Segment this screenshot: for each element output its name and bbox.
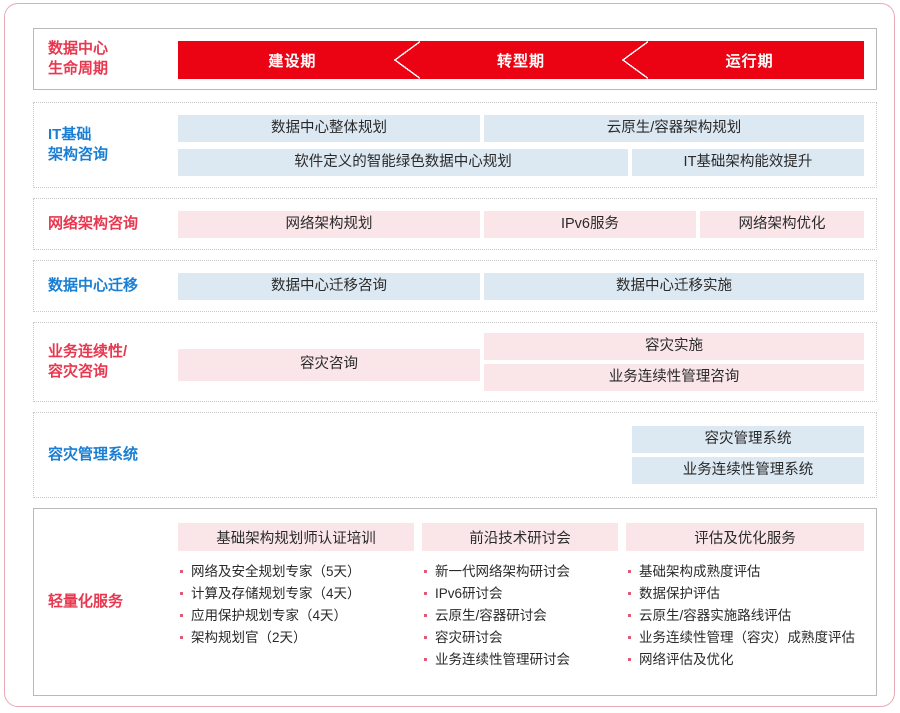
list-item[interactable]: 数据保护评估 — [626, 583, 864, 605]
service-box-dr-implementation[interactable]: 容灾实施 — [484, 333, 864, 360]
column-header-seminars[interactable]: 前沿技术研讨会 — [422, 523, 618, 551]
row-it-infrastructure: IT基础 架构咨询 数据中心整体规划 云原生/容器架构规划 软件定义的智能绿色数… — [33, 102, 877, 188]
row-label-light-services: 轻量化服务 — [48, 592, 123, 612]
service-box-network-optimization[interactable]: 网络架构优化 — [700, 211, 864, 238]
list-item[interactable]: 计算及存储规划专家（4天） — [178, 583, 414, 605]
list-item[interactable]: IPv6研讨会 — [422, 583, 618, 605]
service-box-migration-consulting[interactable]: 数据中心迁移咨询 — [178, 273, 480, 300]
list-item[interactable]: 业务连续性管理研讨会 — [422, 649, 618, 671]
bullet-list-assessment: 基础架构成熟度评估 数据保护评估 云原生/容器实施路线评估 业务连续性管理（容灾… — [626, 561, 864, 671]
bullet-list-seminars: 新一代网络架构研讨会 IPv6研讨会 云原生/容器研讨会 容灾研讨会 业务连续性… — [422, 561, 618, 671]
light-services-columns: 基础架构规划师认证培训 网络及安全规划专家（5天） 计算及存储规划专家（4天） … — [178, 523, 864, 683]
phase-strip: 建设期 转型期 运行期 — [178, 41, 864, 79]
service-box-bcm-consulting[interactable]: 业务连续性管理咨询 — [484, 364, 864, 391]
light-services-column-seminars: 前沿技术研讨会 新一代网络架构研讨会 IPv6研讨会 云原生/容器研讨会 容灾研… — [422, 523, 618, 683]
row-label-dc-migration: 数据中心迁移 — [48, 276, 138, 296]
row-label-it-infrastructure: IT基础 架构咨询 — [48, 125, 108, 166]
list-item[interactable]: 云原生/容器研讨会 — [422, 605, 618, 627]
row-label-network-architecture: 网络架构咨询 — [48, 214, 138, 234]
row-label-dr-management-system: 容灾管理系统 — [48, 445, 138, 465]
service-box-migration-implementation[interactable]: 数据中心迁移实施 — [484, 273, 864, 300]
service-box-dr-consulting[interactable]: 容灾咨询 — [178, 349, 480, 381]
list-item[interactable]: 网络评估及优化 — [626, 649, 864, 671]
service-matrix: 数据中心 生命周期 建设期 转型期 运行期 IT基础 架构咨询 数据中心整体规划… — [33, 28, 877, 696]
row-dr-management-system: 容灾管理系统 容灾管理系统 业务连续性管理系统 — [33, 412, 877, 498]
list-item[interactable]: 基础架构成熟度评估 — [626, 561, 864, 583]
service-box-cloud-native-planning[interactable]: 云原生/容器架构规划 — [484, 115, 864, 142]
list-item[interactable]: 业务连续性管理（容灾）成熟度评估 — [626, 627, 864, 649]
row-lifecycle: 数据中心 生命周期 建设期 转型期 运行期 — [33, 28, 877, 90]
list-item[interactable]: 云原生/容器实施路线评估 — [626, 605, 864, 627]
service-box-it-efficiency[interactable]: IT基础架构能效提升 — [632, 149, 864, 176]
page-frame: 数据中心 生命周期 建设期 转型期 运行期 IT基础 架构咨询 数据中心整体规划… — [4, 3, 895, 707]
list-item[interactable]: 容灾研讨会 — [422, 627, 618, 649]
list-item[interactable]: 网络及安全规划专家（5天） — [178, 561, 414, 583]
row-label-lifecycle: 数据中心 生命周期 — [48, 39, 108, 80]
service-box-network-planning[interactable]: 网络架构规划 — [178, 211, 480, 238]
column-header-certification[interactable]: 基础架构规划师认证培训 — [178, 523, 414, 551]
service-box-sdgreen-dc-planning[interactable]: 软件定义的智能绿色数据中心规划 — [178, 149, 628, 176]
light-services-column-certification: 基础架构规划师认证培训 网络及安全规划专家（5天） 计算及存储规划专家（4天） … — [178, 523, 414, 683]
list-item[interactable]: 应用保护规划专家（4天） — [178, 605, 414, 627]
light-services-column-assessment: 评估及优化服务 基础架构成熟度评估 数据保护评估 云原生/容器实施路线评估 业务… — [626, 523, 864, 683]
phase-transformation[interactable]: 转型期 — [407, 41, 636, 79]
row-label-business-continuity: 业务连续性/ 容灾咨询 — [48, 342, 127, 383]
bullet-list-certification: 网络及安全规划专家（5天） 计算及存储规划专家（4天） 应用保护规划专家（4天）… — [178, 561, 414, 649]
service-box-dc-overall-planning[interactable]: 数据中心整体规划 — [178, 115, 480, 142]
list-item[interactable]: 架构规划官（2天） — [178, 627, 414, 649]
phase-operation[interactable]: 运行期 — [635, 41, 864, 79]
service-box-ipv6-service[interactable]: IPv6服务 — [484, 211, 696, 238]
row-light-services: 轻量化服务 基础架构规划师认证培训 网络及安全规划专家（5天） 计算及存储规划专… — [33, 508, 877, 696]
service-box-bcm-system[interactable]: 业务连续性管理系统 — [632, 457, 864, 484]
column-header-assessment[interactable]: 评估及优化服务 — [626, 523, 864, 551]
row-network-architecture: 网络架构咨询 网络架构规划 IPv6服务 网络架构优化 — [33, 198, 877, 250]
list-item[interactable]: 新一代网络架构研讨会 — [422, 561, 618, 583]
row-dc-migration: 数据中心迁移 数据中心迁移咨询 数据中心迁移实施 — [33, 260, 877, 312]
row-business-continuity: 业务连续性/ 容灾咨询 容灾咨询 容灾实施 业务连续性管理咨询 — [33, 322, 877, 402]
service-box-dr-management-system[interactable]: 容灾管理系统 — [632, 426, 864, 453]
phase-construction[interactable]: 建设期 — [178, 41, 407, 79]
